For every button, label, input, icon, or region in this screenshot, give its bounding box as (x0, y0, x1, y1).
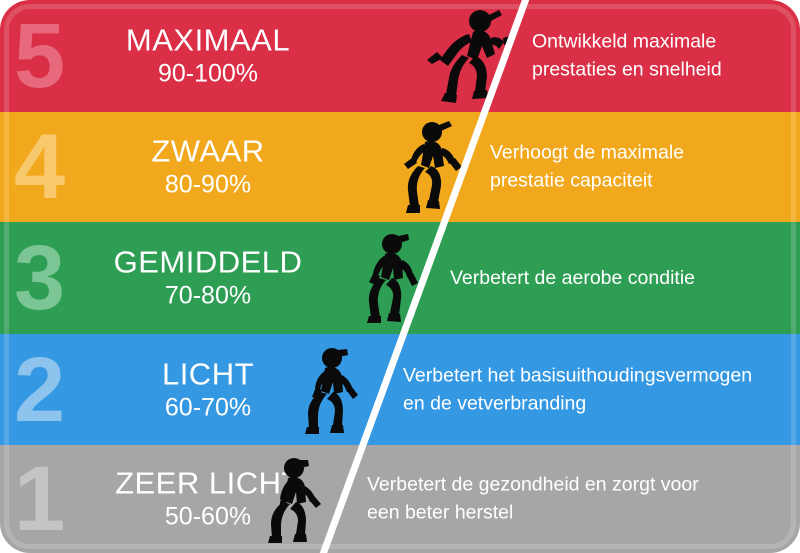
walker-slow-icon (263, 455, 325, 543)
zone-2-description-line-2: en de vetverbranding (403, 390, 752, 418)
zone-row-1: 1 ZEER LICHT 50-60% (0, 445, 800, 553)
zone-3-number: 3 (14, 232, 63, 324)
zone-2-description-line-1: Verbetert het basisuithoudingsvermogen (403, 361, 752, 389)
zone-4-left-block: 4 ZWAAR 80-90% (0, 112, 430, 222)
zone-4-titles: ZWAAR 80-90% (78, 134, 338, 199)
zone-2-description: Verbetert het basisuithoudingsvermogen e… (403, 361, 752, 418)
runner-jogging-icon (393, 120, 465, 214)
zone-5-description: Ontwikkeld maximale prestaties en snelhe… (532, 28, 722, 85)
zone-4-range: 80-90% (78, 170, 338, 200)
zone-2-number: 2 (14, 344, 63, 436)
runner-light-jogging-icon (356, 232, 422, 324)
zone-4-description-line-1: Verhoogt de maximale (490, 139, 684, 167)
zone-1-description: Verbetert de gezondheid en zorgt voor ee… (367, 471, 699, 528)
zone-4-name: ZWAAR (78, 134, 338, 167)
zone-5-range: 90-100% (78, 59, 338, 89)
zone-5-description-line-1: Ontwikkeld maximale (532, 28, 722, 56)
zone-row-3: 3 GEMIDDELD 70-80% (0, 222, 800, 334)
zone-3-description: Verbetert de aerobe conditie (450, 264, 695, 292)
zone-row-5: 5 MAXIMAAL 90-100% (0, 0, 800, 112)
zone-4-description: Verhoogt de maximale prestatie capacitei… (490, 139, 684, 196)
zone-row-2: 2 LICHT 60-70% (0, 334, 800, 445)
zone-1-description-line-1: Verbetert de gezondheid en zorgt voor (367, 471, 699, 499)
zone-4-description-line-2: prestatie capaciteit (490, 167, 684, 195)
zone-1-number: 1 (14, 453, 63, 545)
zone-1-description-line-2: een beter herstel (367, 499, 699, 527)
zone-4-number: 4 (14, 121, 63, 213)
zone-5-titles: MAXIMAAL 90-100% (78, 23, 338, 88)
zone-5-number: 5 (14, 10, 63, 102)
zone-5-name: MAXIMAAL (78, 23, 338, 56)
walker-brisk-icon (298, 345, 362, 435)
zone-3-description-line-1: Verbetert de aerobe conditie (450, 264, 695, 292)
zone-5-description-line-2: prestaties en snelheid (532, 56, 722, 84)
heart-rate-zone-infographic: 5 MAXIMAAL 90-100% (0, 0, 800, 553)
zone-3-name: GEMIDDELD (78, 245, 338, 278)
runner-sprinting-icon (425, 8, 515, 104)
zone-3-titles: GEMIDDELD 70-80% (78, 245, 338, 310)
zone-2-left-block: 2 LICHT 60-70% (0, 334, 430, 445)
zone-row-4: 4 ZWAAR 80-90% (0, 112, 800, 222)
zone-1-left-block: 1 ZEER LICHT 50-60% (0, 445, 430, 553)
zone-3-range: 70-80% (78, 281, 338, 311)
zone-5-left-block: 5 MAXIMAAL 90-100% (0, 0, 430, 112)
